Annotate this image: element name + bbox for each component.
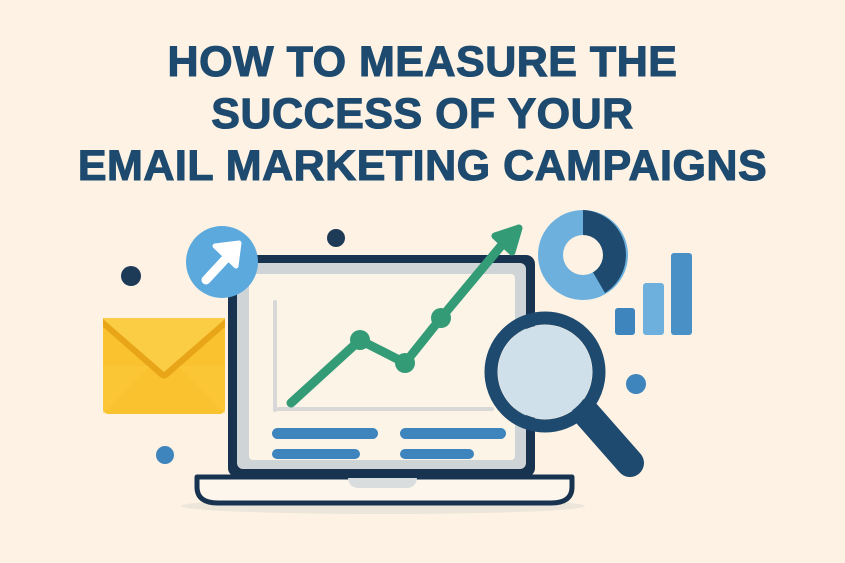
bar-2: [643, 283, 664, 335]
magnifier-lens: [498, 325, 592, 419]
text-bar-left-1: [272, 428, 378, 439]
text-bar-left-2: [272, 449, 360, 459]
poster-canvas: HOW TO MEASURE THE SUCCESS OF YOUR EMAIL…: [0, 0, 845, 563]
donut-hole: [563, 235, 603, 275]
decor-dot-blue-right: [626, 374, 646, 394]
trend-marker-1: [350, 330, 370, 350]
decor-dot-blue-left: [156, 446, 174, 464]
arrow-badge-icon: [186, 226, 258, 298]
laptop-base-notch: [348, 478, 417, 488]
email-marketing-analytics-illustration: [0, 0, 845, 563]
trend-marker-3: [431, 308, 451, 328]
bar-3: [671, 253, 692, 335]
text-bar-right-1: [400, 428, 506, 439]
decor-dot-navy-left: [121, 266, 141, 286]
trend-marker-2: [395, 353, 415, 373]
text-bar-right-2: [400, 449, 474, 459]
magnifier-handle: [586, 413, 630, 463]
decor-dot-navy-top: [327, 229, 345, 247]
envelope-icon: [103, 318, 225, 414]
donut-chart: [538, 210, 628, 300]
bar-1: [615, 308, 635, 335]
